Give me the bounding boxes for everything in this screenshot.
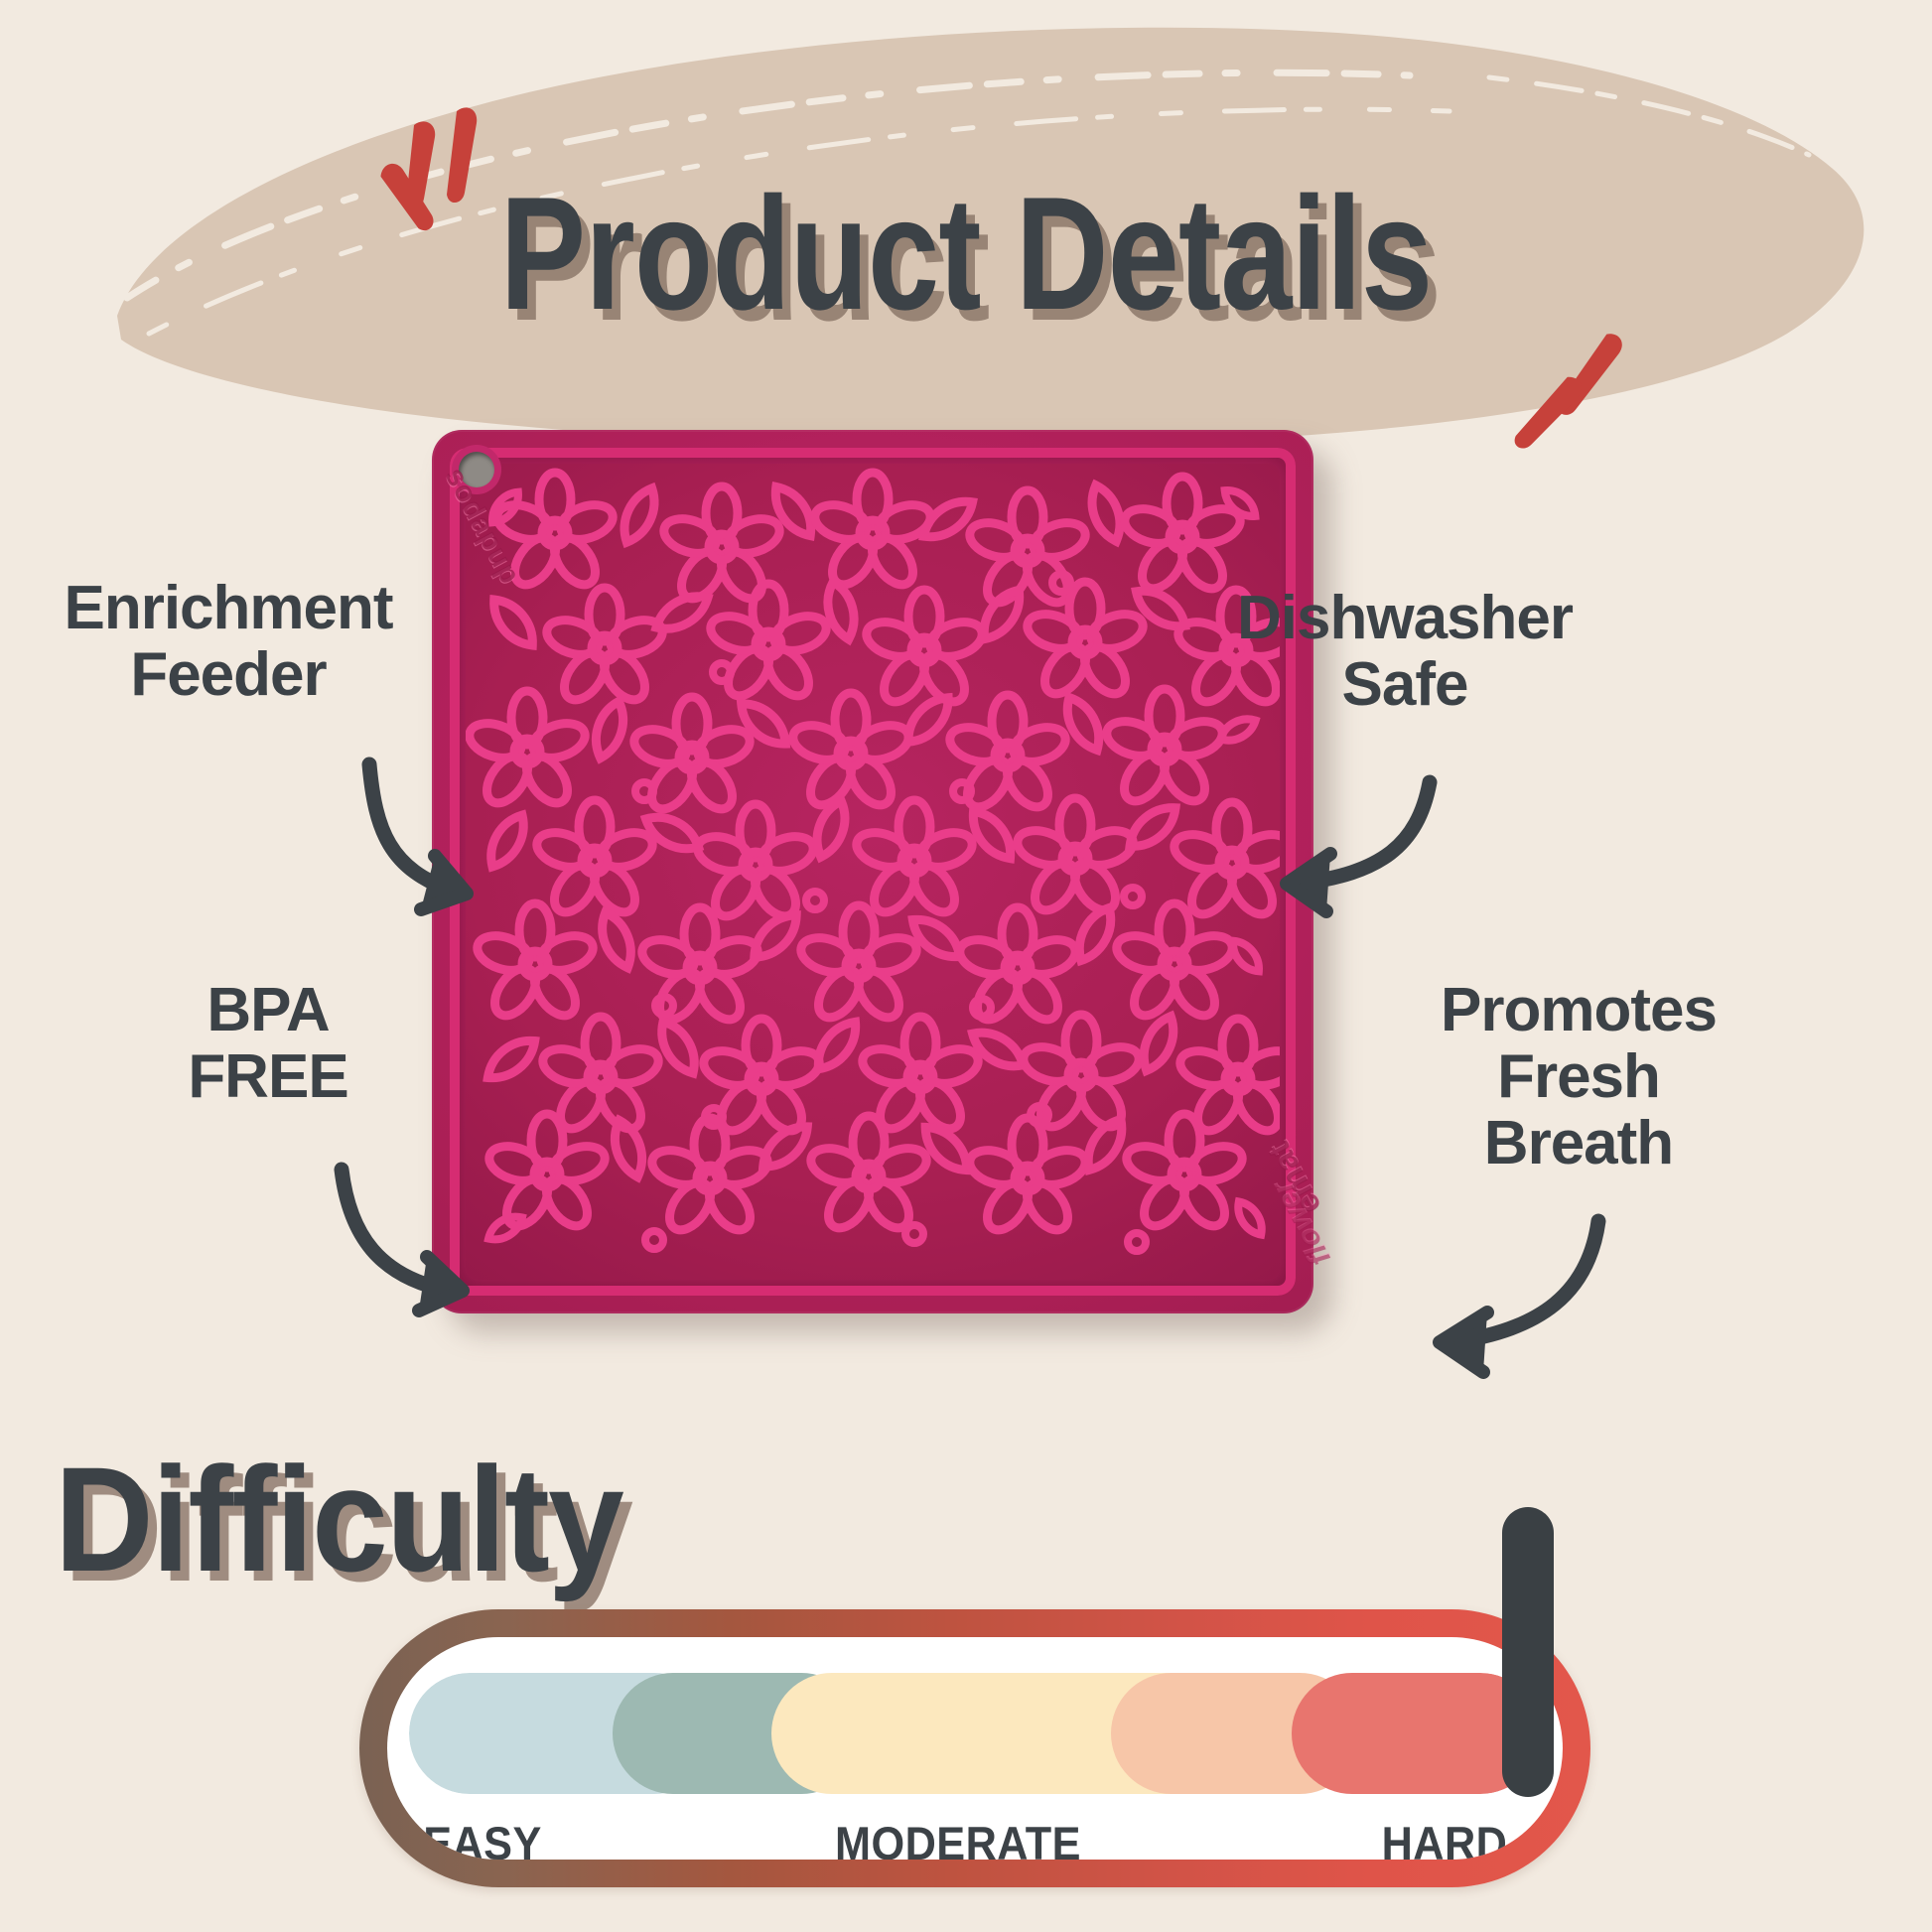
difficulty-slider[interactable]: EASY MODERATE HARD: [359, 1609, 1590, 1887]
difficulty-slider-marker[interactable]: [1502, 1507, 1554, 1797]
slider-label-moderate: MODERATE: [835, 1816, 1081, 1860]
slider-gradient-track: [409, 1673, 1541, 1794]
slider-label-easy: EASY: [423, 1816, 542, 1860]
slider-label-row: EASY MODERATE HARD: [409, 1816, 1541, 1860]
slider-inner-panel: EASY MODERATE HARD: [387, 1637, 1563, 1860]
difficulty-heading: Difficulty: [55, 1445, 622, 1593]
slider-label-hard: HARD: [1382, 1816, 1508, 1860]
infographic-canvas: Product Details: [0, 0, 1932, 1932]
